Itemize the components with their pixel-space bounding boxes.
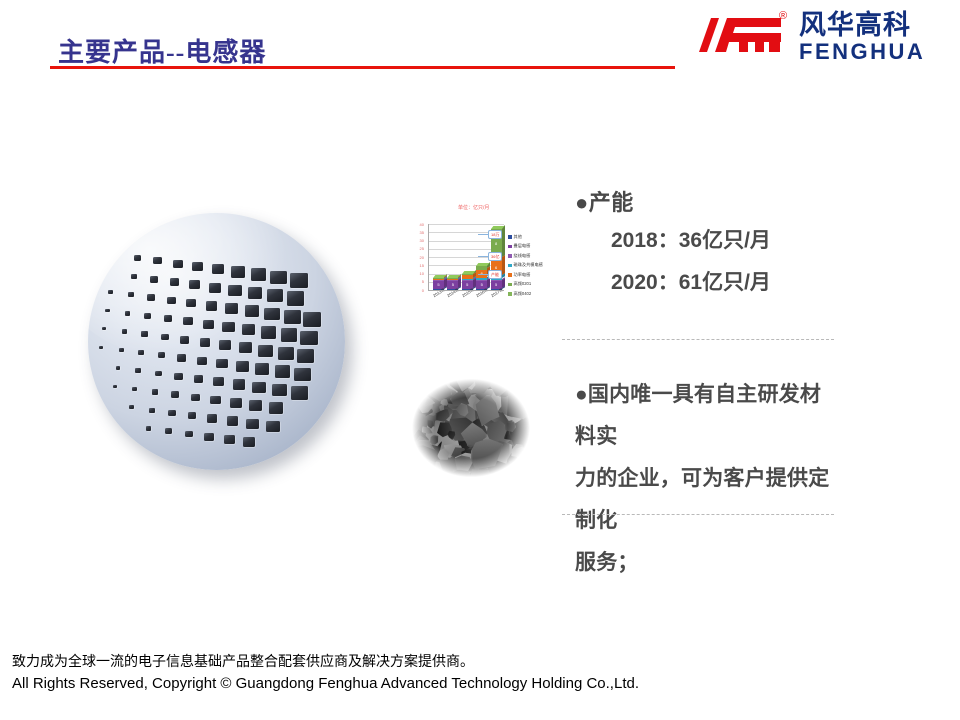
- inductor-chip: [144, 313, 151, 319]
- chart-y-tick: 30: [414, 238, 424, 243]
- inductor-chip: [267, 289, 283, 302]
- inductor-chip: [122, 329, 127, 333]
- sem-micrograph: [404, 372, 538, 484]
- inductor-chip: [177, 354, 186, 361]
- inductor-chip: [170, 278, 180, 286]
- chart-legend-label: 高频0402: [514, 291, 532, 297]
- chart-x-axis: [428, 290, 504, 291]
- inductor-chip: [303, 312, 321, 327]
- inductor-chip: [243, 437, 255, 447]
- inductor-chip: [188, 412, 197, 419]
- inductor-chip: [227, 416, 239, 426]
- inductor-chip: [290, 273, 308, 288]
- chart-y-tick: 5: [414, 279, 424, 284]
- chart-legend-item: 其他: [508, 228, 543, 238]
- inductor-chip: [141, 331, 148, 337]
- inductor-chip: [173, 260, 183, 268]
- inductor-chip: [150, 276, 158, 283]
- footer-slogan-chinese: 致力成为全球一流的电子信息基础产品整合配套供应商及解决方案提供商。: [12, 650, 942, 672]
- inductor-chip: [219, 340, 231, 350]
- rnd-line-1: ●国内唯一具有自主研发材料实: [575, 374, 841, 458]
- inductor-chip: [258, 345, 273, 357]
- chart-callout-leader: [478, 234, 488, 235]
- product-photo-inductors: [88, 213, 345, 470]
- inductor-chip: [209, 283, 221, 293]
- capacity-bar-chart: 单位：亿只/月 051015202530354052013年52014年5201…: [396, 204, 556, 324]
- inductor-chip: [153, 257, 162, 264]
- inductor-chip: [105, 309, 110, 313]
- inductor-chip: [131, 274, 138, 280]
- chart-legend-item: 叠层电感: [508, 238, 543, 248]
- inductor-chip: [128, 292, 134, 297]
- inductor-chip: [264, 308, 280, 321]
- inductor-chip: [102, 327, 106, 330]
- inductor-chip: [146, 426, 152, 431]
- inductor-chip: [266, 421, 280, 433]
- inductor-chip: [180, 336, 189, 344]
- inductor-chip: [99, 346, 103, 349]
- chart-title: 单位：亿只/月: [458, 204, 489, 211]
- title-underline-rule: [50, 66, 675, 69]
- inductor-chip: [161, 334, 169, 341]
- inductor-chip: [228, 285, 242, 296]
- inductor-chip: [147, 294, 155, 300]
- inductor-chip: [222, 322, 235, 332]
- inductor-chip: [113, 385, 117, 388]
- chart-callout-leader: [478, 274, 488, 275]
- inductor-chip: [281, 328, 298, 342]
- slide-header: 主要产品--电感器 ® 风华高科 FENGHUA: [0, 0, 960, 80]
- content-block-rnd: ●国内唯一具有自主研发材料实 力的企业，可为客户提供定制化 服务；: [575, 374, 841, 584]
- inductor-chip: [158, 352, 166, 358]
- inductor-chip: [194, 375, 204, 383]
- company-logo: ® 风华高科 FENGHUA: [695, 10, 945, 68]
- inductor-chip: [132, 387, 137, 391]
- inductor-chip: [275, 365, 291, 378]
- footer-copyright-english: All Rights Reserved, Copyright © Guangdo…: [12, 672, 942, 696]
- inductor-chip: [171, 391, 179, 398]
- chart-y-tick: 20: [414, 255, 424, 260]
- wafer-disc: [88, 213, 345, 470]
- inductor-chip: [189, 280, 200, 289]
- inductor-chip: [134, 255, 141, 261]
- inductor-chip: [278, 347, 294, 360]
- registered-trademark-icon: ®: [779, 10, 787, 22]
- inductor-chip: [236, 361, 249, 372]
- inductor-chip: [183, 317, 193, 325]
- inductor-chip: [261, 326, 276, 339]
- chart-legend-item: 磁珠及共模电感: [508, 257, 543, 267]
- bullet-capacity-heading: ●产能: [575, 186, 843, 220]
- inductor-chip: [225, 303, 238, 314]
- inductor-chip: [192, 262, 203, 271]
- inductor-chip: [230, 398, 242, 408]
- inductor-chip: [138, 350, 144, 355]
- rnd-line-2: 力的企业，可为客户提供定制化: [575, 458, 841, 542]
- inductor-chip: [152, 389, 159, 395]
- inductor-chip: [294, 368, 311, 382]
- inductor-chip: [135, 368, 141, 373]
- chart-y-tick: 10: [414, 271, 424, 276]
- inductor-chip: [251, 268, 266, 281]
- chart-legend-item: 功率电感: [508, 266, 543, 276]
- inductor-chip: [245, 305, 259, 317]
- inductor-chip: [255, 363, 269, 375]
- inductor-chip: [165, 428, 172, 434]
- chart-callout: 18万: [488, 230, 502, 239]
- inductor-chip: [252, 382, 266, 393]
- inductor-chip: [287, 291, 305, 305]
- inductor-chip: [125, 311, 131, 316]
- inductor-chip: [248, 287, 263, 299]
- inductor-chip: [246, 419, 259, 430]
- chart-y-tick: 35: [414, 230, 424, 235]
- inductor-chip: [249, 400, 262, 411]
- inductor-chip: [200, 338, 211, 347]
- divider-line-2: [562, 514, 834, 515]
- chart-y-tick: 15: [414, 263, 424, 268]
- inductor-chip: [216, 359, 228, 369]
- inductor-chip: [231, 266, 245, 277]
- chart-y-axis: [428, 224, 429, 290]
- inductor-chip: [224, 435, 235, 444]
- inductor-chip: [116, 366, 121, 370]
- content-block-capacity: ●产能 2018：36亿只/月 2020：61亿只/月: [575, 186, 843, 304]
- slide-footer: 致力成为全球一流的电子信息基础产品整合配套供应商及解决方案提供商。 All Ri…: [12, 650, 942, 696]
- page-title: 主要产品--电感器: [58, 32, 266, 69]
- capacity-line-2018: 2018：36亿只/月: [575, 220, 843, 262]
- chart-legend-item: 高频0402: [508, 285, 543, 295]
- chart-legend-swatch: [508, 292, 512, 296]
- chart-callout: 产能: [488, 270, 502, 279]
- inductor-chip: [239, 342, 252, 353]
- inductor-chip: [284, 310, 301, 324]
- inductor-chip: [164, 315, 173, 322]
- inductor-chip: [297, 349, 314, 363]
- chart-segment-label: 8: [491, 241, 502, 247]
- inductor-chip: [191, 394, 200, 402]
- rnd-line-3: 服务；: [575, 542, 841, 584]
- divider-line-1: [562, 339, 834, 340]
- chart-gridline: [428, 224, 504, 225]
- inductor-chip: [212, 264, 225, 274]
- inductor-chip: [207, 414, 217, 422]
- inductor-chip: [213, 377, 224, 386]
- inductor-chip: [108, 290, 113, 294]
- inductor-chip: [272, 384, 287, 396]
- inductor-chip: [149, 408, 155, 413]
- inductor-chip: [270, 271, 287, 285]
- sem-grain-field: [404, 372, 538, 484]
- inductor-chip: [174, 373, 183, 380]
- chart-y-tick: 0: [414, 288, 424, 293]
- chart-callout: 36亿: [488, 252, 502, 261]
- inductor-chip: [291, 386, 308, 400]
- inductor-chip: [168, 410, 176, 416]
- chart-legend-item: 高频0201: [508, 276, 543, 286]
- inductor-chip: [129, 405, 134, 409]
- logo-chinese-name: 风华高科: [799, 10, 911, 40]
- inductor-chip: [210, 396, 221, 405]
- logo-english-name: FENGHUA: [799, 40, 925, 64]
- inductor-chip: [155, 371, 162, 377]
- capacity-line-2020: 2020：61亿只/月: [575, 262, 843, 304]
- inductor-chip: [185, 431, 193, 438]
- inductor-chip: [197, 357, 207, 365]
- inductor-chip: [119, 348, 124, 352]
- inductor-chip: [204, 433, 214, 441]
- inductor-chip: [300, 331, 318, 346]
- chart-callout-leader: [478, 256, 488, 257]
- inductor-chip: [242, 324, 256, 335]
- inductor-chip: [203, 320, 214, 329]
- inductor-chip: [167, 297, 176, 304]
- chart-legend: 其他叠层电感绕线电感磁珠及共模电感功率电感高频0201高频0402: [508, 228, 543, 295]
- fenghua-logo-mark: [695, 12, 787, 60]
- inductor-chip: [233, 379, 246, 389]
- inductor-chip: [186, 299, 196, 308]
- inductor-chip: [269, 402, 284, 414]
- inductor-chip: [206, 301, 218, 311]
- chart-y-tick: 25: [414, 246, 424, 251]
- chart-y-tick: 40: [414, 222, 424, 227]
- chart-legend-item: 绕线电感: [508, 247, 543, 257]
- chart-bar-segment-side: [502, 226, 505, 257]
